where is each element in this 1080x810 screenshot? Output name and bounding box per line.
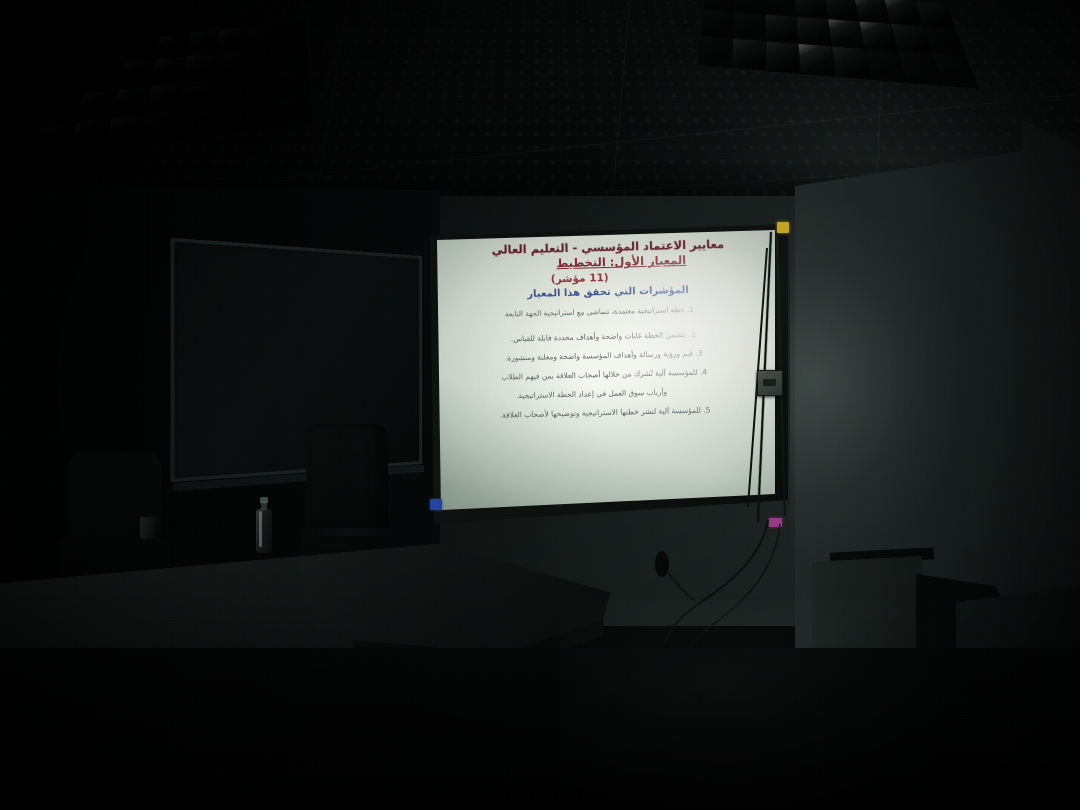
slide-lead-item: 1. خطة استراتيجية معتمدة، تتماشى مع استر…	[455, 303, 743, 320]
outlet-slot-icon	[763, 379, 776, 386]
slide-standard-text: المعيار الأول: التخطيط	[556, 253, 686, 270]
corner-marker-top-right-icon	[777, 222, 789, 233]
slide-list-item: 4. للمؤسسة آلية تُشرك من خلالها أصحاب ال…	[451, 366, 757, 384]
wall-outlet-box[interactable]	[757, 370, 783, 396]
slide-list-item: 3. قيم ورؤية ورسالة وأهداف المؤسسة واضحة…	[451, 347, 757, 365]
corner-marker-bottom-left-icon	[430, 499, 442, 510]
slide-list-item: 2. تتضمن الخطة غايات واضحة وأهداف محددة …	[450, 328, 756, 346]
room-photo-scene: معايير الاعتماد المؤسسي - التعليم العالي…	[0, 0, 1080, 810]
projection-screen-surface[interactable]: معايير الاعتماد المؤسسي - التعليم العالي…	[437, 230, 775, 510]
slide-indicator-count: (11 مؤشر)	[447, 272, 609, 288]
water-bottle[interactable]	[256, 497, 272, 553]
slide-list-item: وأرباب سوق العمل في إعداد الخطة الاسترات…	[452, 386, 732, 403]
slide-indicator-list: 2. تتضمن الخطة غايات واضحة وأهداف محددة …	[450, 328, 758, 422]
drinking-cup[interactable]	[140, 517, 156, 539]
slide-subtitle: المؤشرات التي تحقق هذا المعيار	[481, 283, 735, 300]
slide-content: معايير الاعتماد المؤسسي - التعليم العالي…	[437, 230, 775, 510]
slide-list-item: 5. للمؤسسة آلية لنشر خطتها الاستراتيجية …	[452, 404, 758, 422]
chair-backrest	[306, 424, 388, 534]
bottle-highlight	[259, 511, 262, 547]
floor-light-pool	[560, 600, 980, 810]
interactive-whiteboard[interactable]: معايير الاعتماد المؤسسي - التعليم العالي…	[424, 224, 788, 524]
